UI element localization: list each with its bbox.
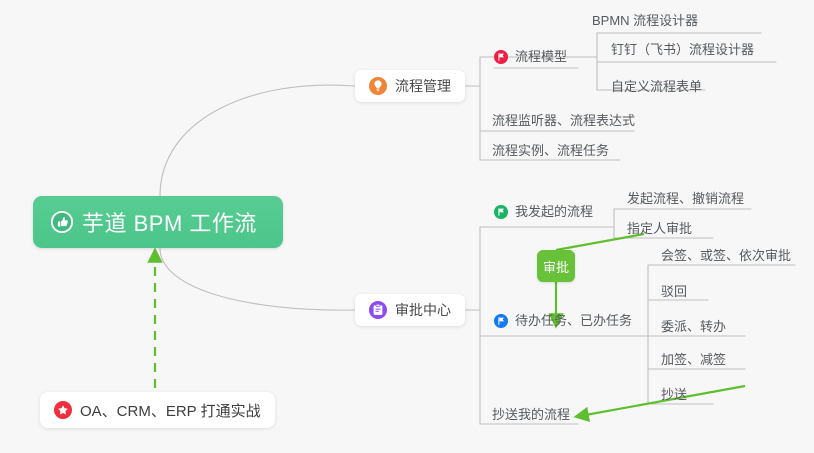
leaf-todo-done-tasks[interactable]: 待办任务、已办任务 <box>494 312 632 330</box>
flag-icon <box>494 205 508 219</box>
leaf-label: 我发起的流程 <box>515 203 593 221</box>
thumbs-up-icon <box>51 211 73 233</box>
leaf-countersign[interactable]: 会签、或签、依次审批 <box>661 247 791 265</box>
flag-icon <box>494 50 508 64</box>
root-node[interactable]: 芋道 BPM 工作流 <box>33 196 283 248</box>
leaf-reject[interactable]: 驳回 <box>661 283 687 301</box>
leaf-process-model[interactable]: 流程模型 <box>494 48 567 66</box>
star-icon <box>54 401 72 419</box>
leaf-label: 流程模型 <box>515 48 567 66</box>
footer-node-label: OA、CRM、ERP 打通实战 <box>80 400 261 421</box>
leaf-assignee-approval[interactable]: 指定人审批 <box>627 220 692 238</box>
leaf-cc-to-me[interactable]: 抄送我的流程 <box>492 406 570 424</box>
flag-icon <box>494 314 508 328</box>
leaf-bpmn-designer[interactable]: BPMN 流程设计器 <box>592 12 698 30</box>
leaf-process-instance[interactable]: 流程实例、流程任务 <box>492 142 609 160</box>
leaf-custom-form[interactable]: 自定义流程表单 <box>611 78 702 96</box>
root-label: 芋道 BPM 工作流 <box>82 206 257 238</box>
leaf-my-initiated[interactable]: 我发起的流程 <box>494 203 593 221</box>
leaf-start-cancel-process[interactable]: 发起流程、撤销流程 <box>627 190 744 208</box>
leaf-label: 待办任务、已办任务 <box>515 312 632 330</box>
lightbulb-icon <box>369 77 387 95</box>
leaf-delegate-transfer[interactable]: 委派、转办 <box>661 318 726 336</box>
footer-node-oa-crm-erp[interactable]: OA、CRM、ERP 打通实战 <box>40 392 275 428</box>
leaf-cc[interactable]: 抄送 <box>661 386 687 404</box>
callout-approval[interactable]: 审批 <box>537 250 575 282</box>
leaf-process-listener[interactable]: 流程监听器、流程表达式 <box>492 112 635 130</box>
mindmap-canvas: 芋道 BPM 工作流 流程管理 审批中心 <box>0 0 814 453</box>
branch-node-process-management[interactable]: 流程管理 <box>355 70 465 102</box>
leaf-dingtalk-designer[interactable]: 钉钉（飞书）流程设计器 <box>611 41 754 59</box>
leaf-add-remove-sign[interactable]: 加签、减签 <box>661 351 726 369</box>
clipboard-icon <box>369 301 387 319</box>
branch-label: 流程管理 <box>395 76 451 96</box>
branch-node-approval-center[interactable]: 审批中心 <box>355 294 465 326</box>
branch-label: 审批中心 <box>395 300 451 320</box>
